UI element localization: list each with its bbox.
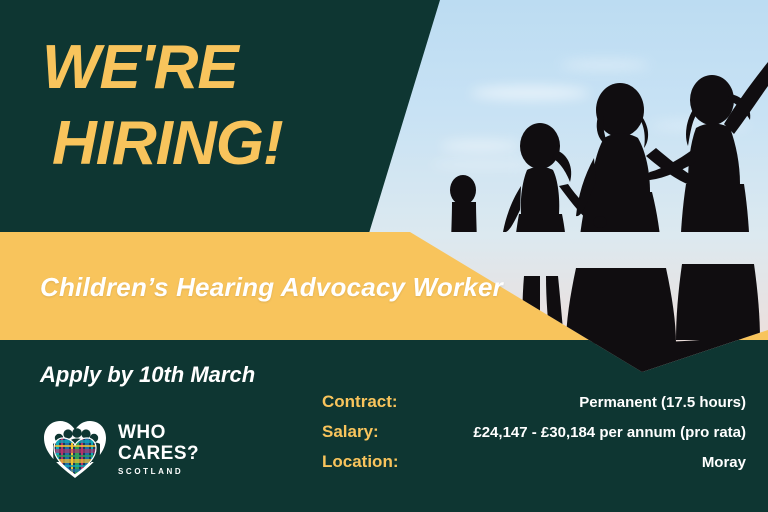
job-details: Contract: Permanent (17.5 hours) Salary:… — [322, 392, 746, 482]
detail-value-salary: £24,147 - £30,184 per annum (pro rata) — [473, 424, 746, 441]
wordmark-line-1: WHO — [118, 423, 199, 442]
detail-value-location: Moray — [702, 454, 746, 471]
detail-row-contract: Contract: Permanent (17.5 hours) — [322, 392, 746, 422]
organisation-wordmark: WHO CARES? SCOTLAND — [118, 423, 199, 476]
detail-value-contract: Permanent (17.5 hours) — [579, 394, 746, 411]
headline: WE'RE HIRING! — [42, 30, 442, 182]
headline-line-1: WE'RE — [42, 30, 442, 106]
detail-label-salary: Salary: — [322, 422, 379, 442]
heart-with-people-tartan-logo-icon — [42, 418, 108, 480]
apply-deadline: Apply by 10th March — [40, 362, 255, 388]
job-title: Children’s Hearing Advocacy Worker — [40, 272, 503, 303]
headline-line-2: HIRING! — [52, 106, 442, 182]
detail-label-location: Location: — [322, 452, 399, 472]
recruitment-poster: WE'RE HIRING! Children’s Hearing Advocac… — [0, 0, 768, 512]
detail-row-location: Location: Moray — [322, 452, 746, 482]
organisation-logo: WHO CARES? SCOTLAND — [42, 418, 199, 480]
detail-row-salary: Salary: £24,147 - £30,184 per annum (pro… — [322, 422, 746, 452]
wordmark-line-2: CARES? — [118, 444, 199, 463]
wordmark-line-3: SCOTLAND — [118, 468, 199, 476]
detail-label-contract: Contract: — [322, 392, 398, 412]
